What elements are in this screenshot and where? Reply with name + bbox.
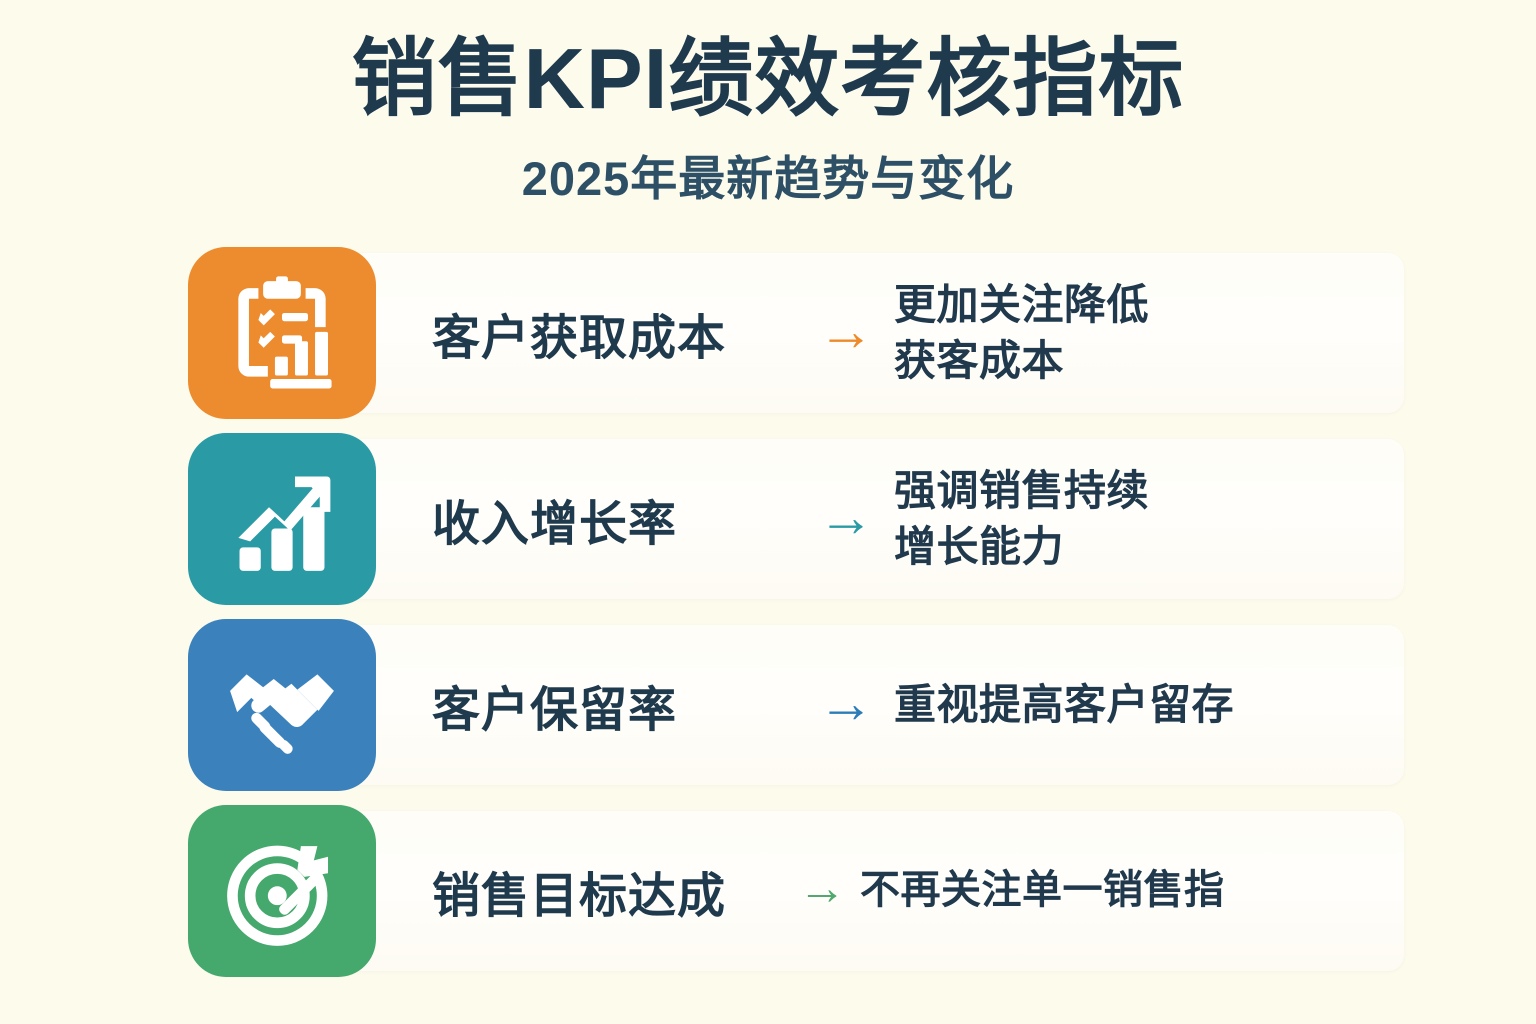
trend-line: 更加关注降低: [894, 277, 1432, 332]
row-body: 客户获取成本 → 更加关注降低 获客成本: [376, 277, 1432, 388]
trend-line: 不再关注单一销售指: [860, 864, 1432, 917]
page-subtitle: 2025年最新趋势与变化: [0, 140, 1536, 209]
trend-line: 强调销售持续: [894, 463, 1432, 518]
metric-label: 客户保留率: [432, 670, 798, 740]
arrow-right-icon: →: [798, 489, 894, 545]
handshake-icon-tile: [188, 619, 376, 791]
trend-description: 重视提高客户留存: [894, 677, 1432, 732]
trend-description: 强调销售持续 增长能力: [894, 463, 1432, 574]
handshake-icon: [223, 646, 341, 764]
trend-line: 重视提高客户留存: [894, 677, 1432, 732]
kpi-row-customer-retention-rate[interactable]: 客户保留率 → 重视提高客户留存: [188, 619, 1432, 791]
kpi-list: 客户获取成本 → 更加关注降低 获客成本: [0, 247, 1536, 977]
row-body: 销售目标达成 → 不再关注单一销售指: [376, 856, 1432, 926]
infographic-header: 销售KPI绩效考核指标 2025年最新趋势与变化: [0, 0, 1536, 209]
row-body: 收入增长率 → 强调销售持续 增长能力: [376, 463, 1432, 574]
kpi-row-revenue-growth-rate[interactable]: 收入增长率 → 强调销售持续 增长能力: [188, 433, 1432, 605]
growth-chart-icon: [223, 460, 341, 578]
clipboard-chart-icon: [223, 274, 341, 392]
trend-description: 不再关注单一销售指: [860, 864, 1432, 917]
trend-line: 增长能力: [894, 519, 1432, 574]
kpi-row-customer-acquisition-cost[interactable]: 客户获取成本 → 更加关注降低 获客成本: [188, 247, 1432, 419]
arrow-right-icon: →: [798, 303, 894, 359]
metric-label: 收入增长率: [432, 484, 798, 554]
metric-label: 客户获取成本: [432, 298, 798, 368]
target-dart-icon: [223, 832, 341, 950]
clipboard-chart-icon-tile: [188, 247, 376, 419]
arrow-right-icon: →: [798, 675, 894, 731]
growth-chart-icon-tile: [188, 433, 376, 605]
row-body: 客户保留率 → 重视提高客户留存: [376, 670, 1432, 740]
metric-label: 销售目标达成: [432, 856, 784, 926]
arrow-right-icon: →: [784, 865, 860, 913]
target-dart-icon-tile: [188, 805, 376, 977]
page-title: 销售KPI绩效考核指标: [0, 34, 1536, 126]
trend-description: 更加关注降低 获客成本: [894, 277, 1432, 388]
kpi-row-sales-target-achievement[interactable]: 销售目标达成 → 不再关注单一销售指: [188, 805, 1432, 977]
trend-line: 获客成本: [894, 333, 1432, 388]
